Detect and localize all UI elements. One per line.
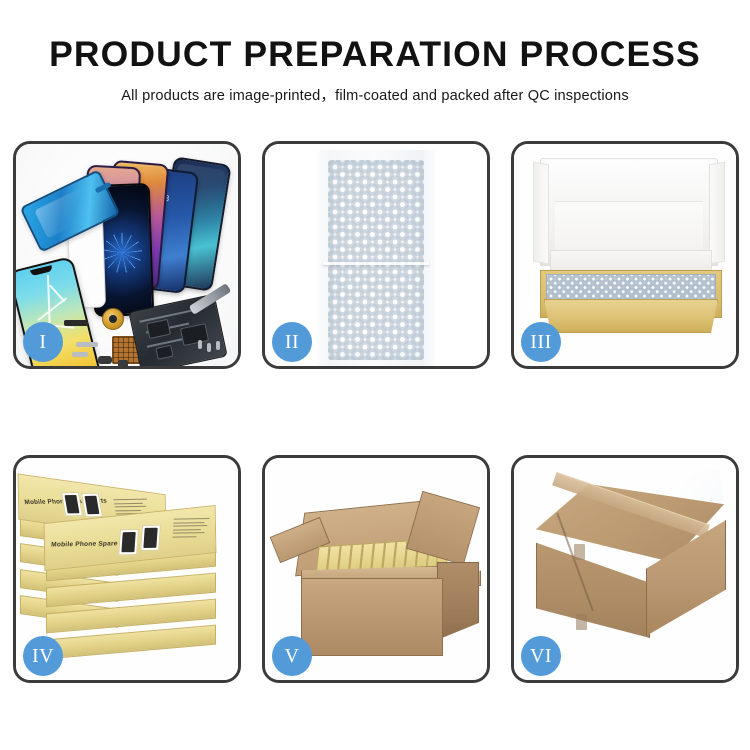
step-panel-1[interactable]: 06:08 (13, 141, 241, 369)
step-badge-4: IV (23, 636, 63, 676)
bubble-wrap-pouch (317, 150, 435, 366)
step-badge-5: V (272, 636, 312, 676)
screw (207, 343, 211, 352)
step-panel-2[interactable]: II (262, 141, 490, 369)
step-badge-3: III (521, 322, 561, 362)
step-panel-3[interactable]: III (511, 141, 739, 369)
carton-front-face (301, 578, 443, 656)
crack-line (49, 285, 65, 302)
bubble-grid (328, 160, 424, 360)
part-screws (198, 340, 224, 354)
screw (216, 341, 220, 350)
process-step-grid: 06:08 (13, 141, 739, 683)
box-spec-lines (172, 518, 215, 540)
part-camera-module (98, 356, 112, 364)
screen-burst-graphic (101, 232, 142, 273)
pouch-seam (323, 262, 429, 265)
pcb-connector (155, 345, 173, 360)
box-phone-thumbnail (118, 529, 139, 555)
page-subtitle: All products are image-printed，film-coat… (0, 73, 750, 105)
part-speaker (118, 360, 128, 366)
box-phone-thumbnail (140, 525, 161, 551)
carton-handle-tab (576, 614, 587, 630)
page-root: PRODUCT PREPARATION PROCESS All products… (0, 0, 750, 750)
step-panel-6[interactable]: VI (511, 455, 739, 683)
page-header: PRODUCT PREPARATION PROCESS All products… (0, 0, 750, 105)
page-title: PRODUCT PREPARATION PROCESS (0, 0, 750, 73)
step-panel-4[interactable]: Mobile Phone Spare Parts Mobile Phone Sp… (13, 455, 241, 683)
step-badge-6: VI (521, 636, 561, 676)
screw (198, 340, 202, 349)
pouch-edge-right (424, 150, 437, 366)
step-badge-2: II (272, 322, 312, 362)
step-badge-1: I (23, 322, 63, 362)
phone-notch (30, 265, 53, 276)
part-bracket (72, 352, 88, 357)
part-copper-coil (102, 308, 124, 330)
part-connector-strip (64, 320, 88, 326)
pouch-edge-left (315, 150, 328, 366)
pcb-shield (146, 319, 171, 339)
part-bracket (76, 342, 98, 347)
step-panel-5[interactable]: V (262, 455, 490, 683)
carton-handle-tab (574, 544, 585, 560)
mailer-box-front-wall (544, 299, 718, 333)
